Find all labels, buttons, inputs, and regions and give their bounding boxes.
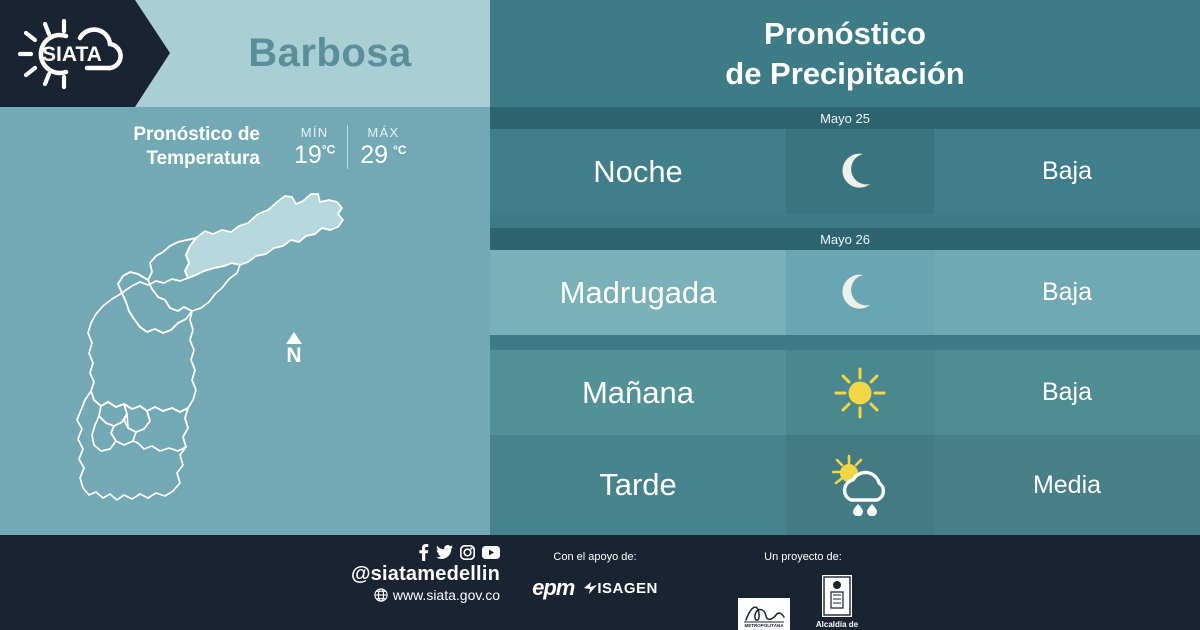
project-block: Un proyecto de: METROPOLITANAValle de Ab… [718, 551, 888, 630]
forecast-period-cell: Madrugada [490, 250, 786, 335]
temperature-max: MÁX 29°C [347, 125, 418, 168]
moon-icon [834, 267, 886, 319]
date-band-label: Mayo 26 [820, 232, 870, 247]
footer: @siatamedellin www.siata.gov.co Con el a… [0, 535, 1200, 630]
sun-icon [832, 365, 888, 421]
temperature-title-line2: Temperatura [146, 148, 260, 169]
forecast-period-cell: Mañana [490, 350, 786, 435]
forecast-level-cell: Baja [934, 250, 1200, 335]
temperature-min-value: 19°C [294, 142, 335, 168]
precipitation-title: Pronóstico de Precipitación [490, 14, 1200, 93]
map-svg [0, 180, 490, 535]
temperature-max-unit: °C [393, 143, 406, 157]
date-band-label: Mayo 25 [820, 111, 870, 126]
city-header-banner: SIATA Barbosa [0, 0, 490, 107]
aburra-valley-map[interactable]: N [0, 180, 490, 535]
forecast-level-label: Media [1033, 471, 1101, 500]
forecast-icon-cell [786, 250, 934, 335]
twitter-icon[interactable] [436, 545, 453, 560]
map-region-la-estrella [92, 416, 116, 451]
social-icon-row [300, 543, 500, 561]
map-region-barbosa [185, 194, 343, 278]
social-handle[interactable]: @siatamedellin [300, 563, 500, 586]
precipitation-title-line1: Pronóstico [764, 16, 926, 51]
moon-icon [834, 146, 886, 198]
forecast-level-label: Baja [1042, 278, 1092, 307]
forecast-level-label: Baja [1042, 157, 1092, 186]
area-logo-caption: METROPOLITANAValle de Aburrá [738, 623, 790, 630]
temperature-max-value: 29°C [360, 142, 406, 168]
area-metropolitana-logo: METROPOLITANAValle de Aburrá [738, 598, 790, 630]
date-band-mayo-26: Mayo 26 [490, 228, 1200, 250]
compass-label: N [277, 345, 311, 366]
siata-logo-text: SIATA [42, 43, 102, 66]
temperature-summary: Pronóstico de Temperatura MÍN 19°C MÁX 2… [0, 107, 490, 187]
date-band-mayo-25: Mayo 25 [490, 107, 1200, 129]
forecast-row-noche[interactable]: Noche Baja [490, 129, 1200, 214]
precipitation-panel: Pronóstico de Precipitación Mayo 25 Noch… [490, 0, 1200, 535]
map-region-itagui [99, 402, 127, 426]
alcaldia-crest-icon [822, 575, 852, 617]
north-arrow-icon [286, 332, 302, 344]
forecast-period-cell: Noche [490, 129, 786, 214]
forecast-row-manana[interactable]: Mañana Ba [490, 350, 1200, 435]
map-region-north-west [118, 238, 196, 293]
forecast-icon-cell [786, 350, 934, 435]
forecast-period-label: Tarde [599, 467, 677, 503]
globe-icon [374, 588, 388, 602]
forecast-level-cell: Media [934, 435, 1200, 535]
temperature-values: MÍN 19°C MÁX 29°C [282, 125, 419, 168]
alcaldia-logo: Alcaldía de Medellín [806, 575, 868, 630]
forecast-period-label: Mañana [582, 375, 694, 411]
forecast-icon-cell [786, 435, 934, 535]
support-block: Con el apoyo de: epm ISAGEN [505, 551, 685, 601]
youtube-icon[interactable] [482, 546, 500, 559]
temperature-title-line1: Pronóstico de [133, 124, 260, 145]
alcaldia-label: Alcaldía de Medellín [806, 620, 868, 630]
sun-rain-cloud-icon [827, 454, 893, 516]
support-logo-row: epm ISAGEN [505, 575, 685, 601]
forecast-row-tarde[interactable]: Tarde Media [490, 435, 1200, 535]
left-panel: SIATA Barbosa Pronóstico de Temperatura … [0, 0, 490, 535]
project-logo-row: METROPOLITANAValle de Aburrá [718, 575, 888, 630]
temperature-title: Pronóstico de Temperatura [95, 123, 260, 172]
infographic-canvas: SIATA Barbosa Pronóstico de Temperatura … [0, 0, 1200, 630]
website-url: www.siata.gov.co [393, 586, 500, 604]
website-row[interactable]: www.siata.gov.co [300, 586, 500, 604]
temperature-min-label: MÍN [294, 125, 335, 140]
forecast-row-madrugada[interactable]: Madrugada Baja [490, 250, 1200, 335]
project-caption: Un proyecto de: [718, 551, 888, 563]
map-region-bello [88, 293, 196, 412]
forecast-icon-cell [786, 129, 934, 214]
temperature-min-unit: °C [322, 143, 335, 157]
temperature-min: MÍN 19°C [282, 125, 347, 168]
epm-logo: epm [532, 575, 574, 601]
precipitation-title-line2: de Precipitación [725, 56, 964, 91]
forecast-level-label: Baja [1042, 378, 1092, 407]
social-block: @siatamedellin www.siata.gov.co [300, 543, 500, 604]
isagen-mark-icon [584, 582, 597, 594]
forecast-level-cell: Baja [934, 129, 1200, 214]
forecast-period-label: Noche [593, 154, 683, 190]
map-region-caldas [133, 407, 188, 451]
siata-logo-badge[interactable]: SIATA [0, 0, 170, 107]
support-caption: Con el apoyo de: [505, 551, 685, 563]
forecast-period-label: Madrugada [560, 275, 717, 311]
forecast-level-cell: Baja [934, 350, 1200, 435]
isagen-logo: ISAGEN [584, 580, 658, 597]
temperature-max-label: MÁX [360, 125, 406, 140]
forecast-period-cell: Tarde [490, 435, 786, 535]
sun-cloud-icon: SIATA [14, 16, 130, 92]
instagram-icon[interactable] [460, 545, 475, 560]
city-name: Barbosa [170, 0, 490, 107]
compass: N [277, 332, 311, 366]
facebook-icon[interactable] [418, 544, 429, 561]
